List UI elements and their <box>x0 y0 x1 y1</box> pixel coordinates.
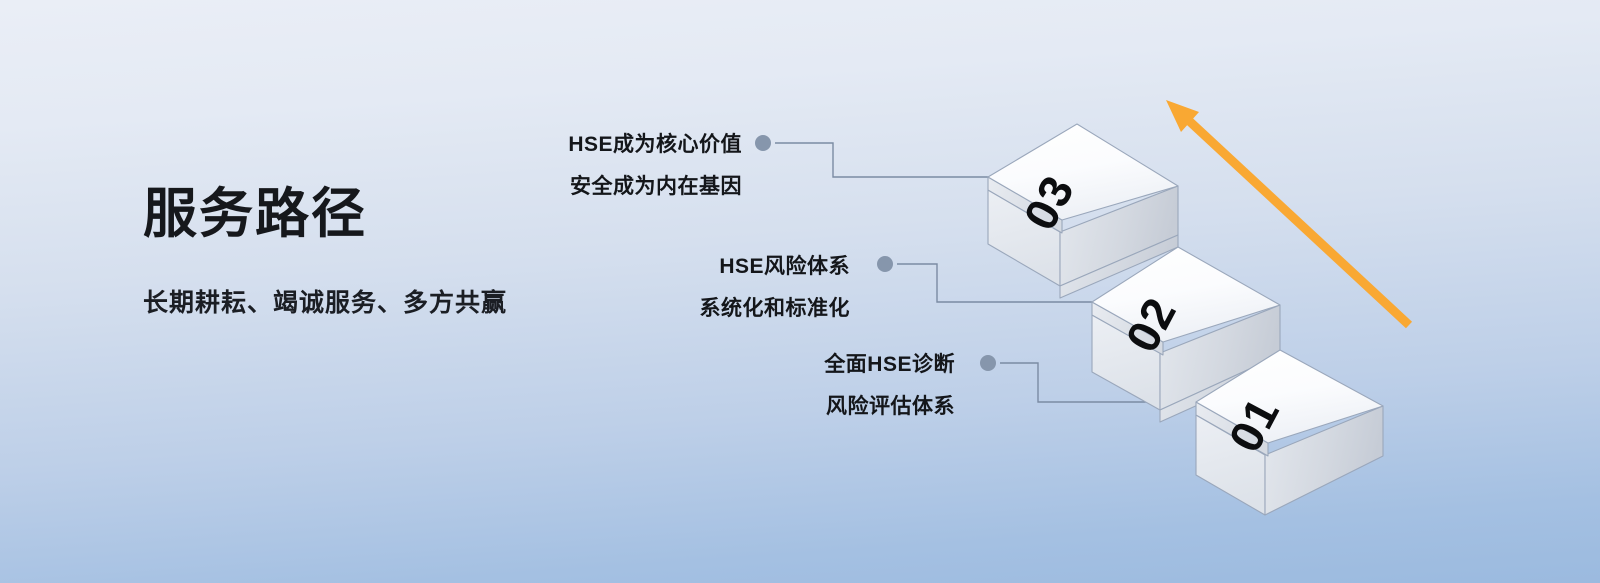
step-02-label-line1: HSE风险体系 <box>719 254 850 278</box>
service-path-diagram: 03 02 01 HSE成为核心价值 安全成为内在基因 <box>0 0 1600 583</box>
step-label-01: 全面HSE诊断 风险评估体系 <box>823 352 955 418</box>
connector-dot-2 <box>877 256 893 272</box>
connector-line-3 <box>775 143 990 177</box>
step-03-label-line2: 安全成为内在基因 <box>570 174 742 198</box>
step-01-label-line1: 全面HSE诊断 <box>823 352 955 376</box>
connector-group-3 <box>755 135 990 177</box>
slide-canvas: 服务路径 长期耕耘、竭诚服务、多方共赢 <box>0 0 1600 583</box>
connector-dot-1 <box>980 355 996 371</box>
step-label-02: HSE风险体系 系统化和标准化 <box>700 254 851 320</box>
step-02-label-line2: 系统化和标准化 <box>700 296 851 320</box>
step-03-label-line1: HSE成为核心价值 <box>568 132 742 156</box>
step-01-label-line2: 风险评估体系 <box>826 394 955 418</box>
step-label-03: HSE成为核心价值 安全成为内在基因 <box>568 132 742 198</box>
connector-dot-3 <box>755 135 771 151</box>
